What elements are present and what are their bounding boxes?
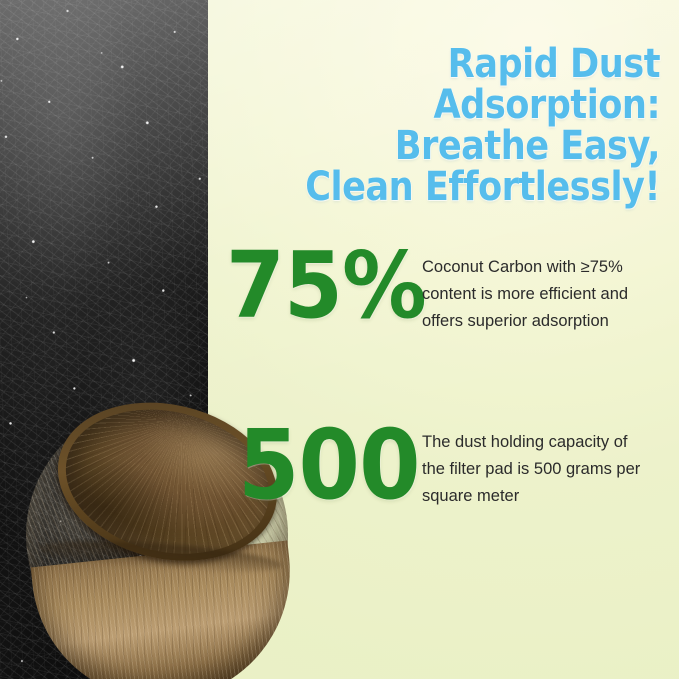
stat-block-coconut-carbon: 75% Coconut Carbon with ≥75% content is … [226, 243, 443, 329]
stat-description-coconut-carbon: Coconut Carbon with ≥75% content is more… [422, 254, 672, 335]
stat-description-dust-capacity: The dust holding capacity of the filter … [422, 429, 674, 510]
stat-block-dust-capacity: 500 The dust holding capacity of the fil… [238, 420, 435, 510]
product-infographic: Rapid Dust Adsorption: Breathe Easy, Cle… [0, 0, 679, 679]
stat-number-percent: 75% [226, 243, 426, 329]
headline: Rapid Dust Adsorption: Breathe Easy, Cle… [262, 44, 660, 208]
stat-number-grams: 500 [238, 420, 420, 510]
